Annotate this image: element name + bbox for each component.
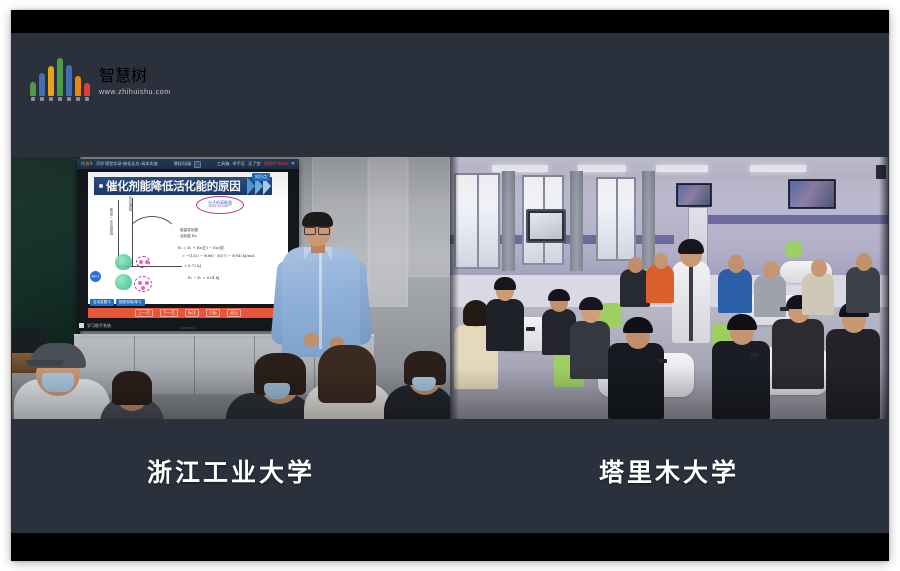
brand-text: 智慧树 www.zhihuishu.com bbox=[99, 62, 171, 98]
phone-on-desk bbox=[750, 353, 759, 357]
logo-bar-3 bbox=[57, 58, 63, 96]
slide-tag: 知识点 bbox=[252, 173, 270, 181]
molecule-graphic bbox=[134, 276, 152, 292]
apps-icon[interactable] bbox=[79, 323, 84, 328]
toolbar-center-label: 课程/班级 bbox=[173, 161, 191, 167]
slide-bottom-toolbar[interactable]: 上一页 下一页 标注 白板 退出 bbox=[88, 308, 288, 318]
classroom-chair bbox=[786, 241, 802, 257]
classroom-window bbox=[596, 177, 636, 261]
slide-canvas: 催化剂能降低活化能的原因 知识点 能量 / 反应进程 反应进程 bbox=[88, 172, 288, 304]
classroom-window bbox=[454, 173, 500, 269]
ceiling-light bbox=[578, 165, 626, 172]
slide-title-banner: 催化剂能降低活化能的原因 知识点 bbox=[94, 177, 272, 195]
phone-on-desk bbox=[526, 327, 535, 331]
smartboard-brand: seewo bbox=[181, 325, 195, 330]
wall-panel bbox=[368, 157, 408, 307]
wall-panel bbox=[408, 157, 450, 277]
bullet-icon bbox=[99, 184, 103, 188]
highlight-callout: 分子的高能量 4016 kJ·mol⁻¹ bbox=[196, 196, 244, 214]
phone-on-desk bbox=[780, 307, 789, 311]
wall-display bbox=[676, 183, 712, 207]
diagram-y-label: 能量 / 反应进程 bbox=[109, 208, 114, 235]
logo-bar-2 bbox=[48, 66, 54, 96]
phone-on-desk bbox=[658, 359, 667, 363]
logo-bar-0 bbox=[30, 82, 36, 96]
slide-title: 催化剂能降低活化能的原因 bbox=[106, 178, 240, 194]
stage-area: 智慧树 www.zhihuishu.com bbox=[11, 33, 889, 533]
window-curtain bbox=[570, 171, 583, 271]
ceiling-light bbox=[656, 165, 708, 172]
logo-bar-6 bbox=[84, 83, 90, 96]
smartboard-toolbar[interactable]: 任务4: 同步课堂实录-催化反应-具体实施 课程/班级 工具箱 举手区 全了堂 … bbox=[77, 159, 299, 169]
toolbar-title: 任务4: bbox=[81, 161, 93, 167]
slide-equation-0: E₂ = E₁ + Ea(正) − Ea(逆) bbox=[178, 246, 224, 251]
diagram-curve bbox=[124, 216, 180, 266]
window-curtain bbox=[502, 171, 515, 271]
glasses-icon bbox=[304, 226, 330, 232]
next-page-button[interactable]: 下一页 bbox=[160, 309, 178, 317]
ppt-badge: PPT bbox=[90, 271, 101, 282]
diagram-x-label: 反应进程 bbox=[128, 196, 133, 211]
logo-bar-1 bbox=[39, 73, 45, 96]
in-class-test-button[interactable]: 随堂测验/练习 bbox=[116, 299, 145, 306]
presentation-window: 智慧树 www.zhihuishu.com bbox=[11, 10, 889, 561]
teacher-hair bbox=[302, 212, 333, 227]
slide-left-buttons[interactable]: 互动答题卡 随堂测验/练习 bbox=[90, 299, 145, 306]
flask-graphic bbox=[115, 254, 132, 270]
callout-line-2: 4016 kJ·mol⁻¹ bbox=[209, 205, 232, 209]
close-icon[interactable]: ✕ bbox=[291, 161, 295, 167]
status-text: 学习助手系统 bbox=[87, 323, 111, 329]
caption-label-main: 浙江工业大学 bbox=[147, 453, 315, 489]
flask-graphic bbox=[115, 274, 132, 290]
molecule-graphic bbox=[136, 256, 150, 268]
video-grid: 任务4: 同步课堂实录-催化反应-具体实施 课程/班级 工具箱 举手区 全了堂 … bbox=[12, 157, 888, 419]
letterbox-bar-bottom bbox=[11, 533, 889, 561]
brand-name: 智慧树 bbox=[99, 62, 171, 86]
logo-bar-5 bbox=[75, 76, 81, 96]
chalkboard bbox=[12, 157, 82, 357]
wall-accent-stripe bbox=[688, 215, 888, 224]
slide-equation-1: = −(132) − 8(86) · 8(57) − 8(94) kJ/mol bbox=[182, 254, 255, 258]
toolbar-grid-icon[interactable] bbox=[194, 161, 201, 168]
video-pane-remote-classroom[interactable] bbox=[450, 157, 888, 419]
toolbar-item-0[interactable]: 工具箱 bbox=[217, 161, 230, 167]
slide-note-line: 能量变化图 bbox=[180, 228, 198, 233]
teacher-hand-left bbox=[304, 333, 319, 347]
ceiling-light bbox=[492, 165, 548, 172]
exit-button[interactable]: 退出 bbox=[227, 309, 241, 317]
prev-page-button[interactable]: 上一页 bbox=[135, 309, 153, 317]
toolbar-item-1[interactable]: 举手区 bbox=[232, 161, 245, 167]
whiteboard-button[interactable]: 白板 bbox=[206, 309, 220, 317]
logo-bar-4 bbox=[66, 65, 72, 96]
ceiling-light bbox=[750, 165, 806, 172]
classroom-monitor bbox=[526, 209, 566, 243]
shirt-placket bbox=[319, 253, 322, 349]
slide-equation-3: E₂ − E₁ = 8.04 kJ bbox=[188, 276, 219, 280]
smartboard[interactable]: 任务4: 同步课堂实录-催化反应-具体实施 课程/班级 工具箱 举手区 全了堂 … bbox=[77, 159, 299, 331]
brand-url: www.zhihuishu.com bbox=[99, 89, 171, 96]
annotate-button[interactable]: 标注 bbox=[185, 309, 199, 317]
wall-speaker bbox=[876, 165, 886, 179]
recording-indicator: 录制中 00:00 bbox=[264, 161, 288, 167]
wall-display bbox=[788, 179, 836, 209]
caption-cell-left: 浙江工业大学 bbox=[12, 433, 450, 509]
slide-equation-2: = 6.72 kJ bbox=[184, 264, 201, 268]
interactive-quiz-button[interactable]: 互动答题卡 bbox=[90, 299, 114, 306]
toolbar-item-2[interactable]: 全了堂 bbox=[248, 161, 261, 167]
toolbar-subtitle: 同步课堂实录-催化反应-具体实施 bbox=[96, 161, 157, 167]
letterbox-bar-top bbox=[11, 10, 889, 33]
video-pane-main-lecture[interactable]: 任务4: 同步课堂实录-催化反应-具体实施 课程/班级 工具箱 举手区 全了堂 … bbox=[12, 157, 450, 419]
slide-note-line: 活化能 Ea bbox=[180, 234, 197, 239]
caption-label-remote: 塔里木大学 bbox=[599, 453, 739, 489]
window-curtain bbox=[642, 171, 655, 271]
logo-bars-icon bbox=[30, 58, 90, 98]
brand-logo[interactable]: 智慧树 www.zhihuishu.com bbox=[30, 50, 171, 98]
site-caption-row: 浙江工业大学 塔里木大学 bbox=[12, 433, 888, 509]
caption-cell-right: 塔里木大学 bbox=[450, 433, 888, 509]
